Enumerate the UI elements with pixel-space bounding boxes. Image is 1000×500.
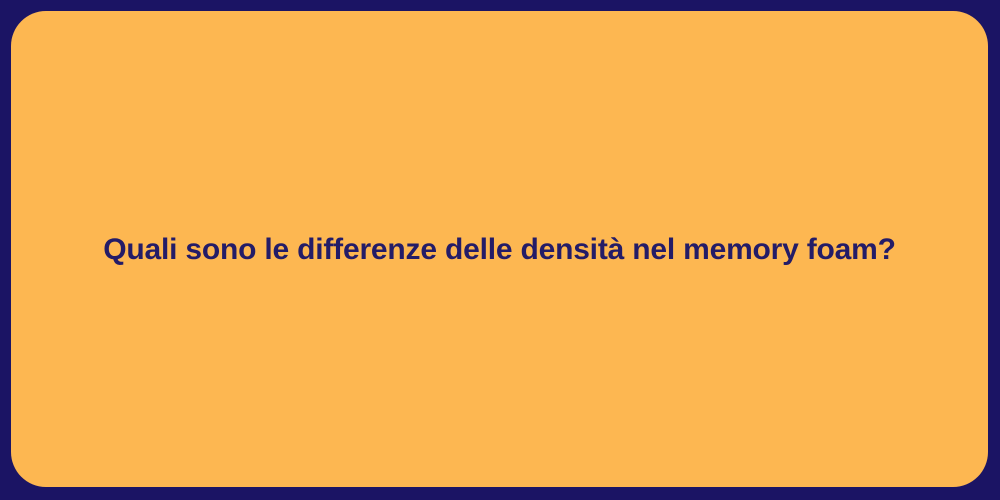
- page-background: Quali sono le differenze delle densità n…: [0, 0, 1000, 500]
- page-title: Quali sono le differenze delle densità n…: [103, 230, 896, 269]
- content-card: Quali sono le differenze delle densità n…: [11, 11, 988, 487]
